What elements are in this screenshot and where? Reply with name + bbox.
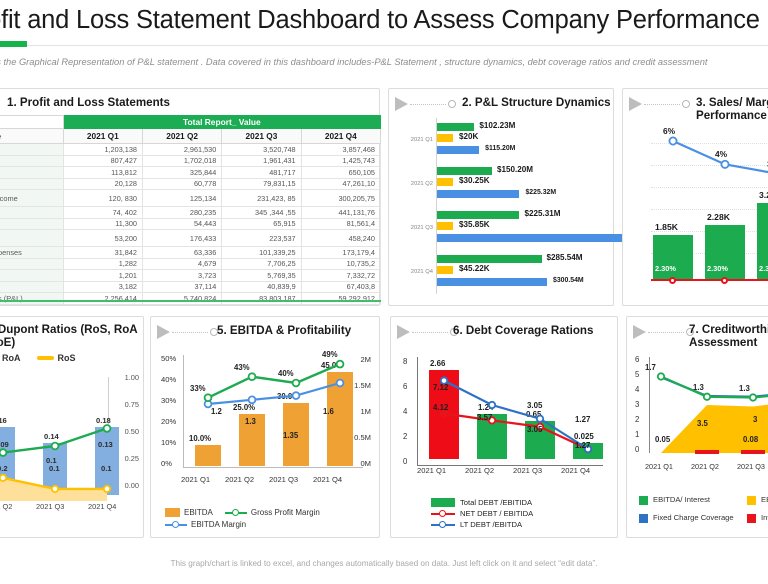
c5-value-annotation: 1.6 bbox=[323, 407, 334, 416]
c2-label-amber: $20K bbox=[459, 132, 478, 141]
table-cell-label: Others bbox=[0, 167, 63, 179]
legend-item-gross-profit-margin: Gross Profit Margin bbox=[225, 508, 320, 517]
legend-item-interest-average: Interest Average bbox=[747, 513, 768, 523]
c7-line-label: 1.3 bbox=[693, 383, 704, 392]
table-cell-value: 1,201 bbox=[63, 270, 142, 282]
legend-item-total-debt-ebitida: Total DEBT /EBITIDA bbox=[431, 498, 533, 507]
legend-swatch bbox=[225, 508, 247, 517]
ros-color-swatch bbox=[37, 356, 54, 359]
table-row: Expenses74, 402280,235345 ,344 ,55441,13… bbox=[0, 207, 381, 219]
c2-bar-green bbox=[437, 167, 492, 175]
legend-label: Fixed Charge Coverage bbox=[653, 513, 734, 522]
card-profit-and-loss-statements: 1. Profit and Loss Statements Total Repo… bbox=[0, 88, 380, 306]
table-cell-value: 223,537 bbox=[222, 230, 301, 247]
c2-bar-amber bbox=[437, 222, 453, 230]
table-row: Expense1,2824,6797,706,2510,735,2 bbox=[0, 258, 381, 270]
legend-swatch bbox=[747, 514, 756, 523]
c2-label-green: $102.23M bbox=[479, 121, 515, 130]
table-row: Net Earnings (P&L)2,256,4145,740,82483,8… bbox=[0, 293, 381, 305]
table-cell-label: Others bbox=[0, 270, 63, 282]
table-cell-value: 74, 402 bbox=[63, 207, 142, 219]
dotted-line bbox=[412, 332, 448, 333]
c7-x-label: 2021 Q3 bbox=[737, 462, 765, 471]
card-sales-margin-performance: 3. Sales/ Margin Performance Analysis 1.… bbox=[622, 88, 768, 306]
table-cell-value: 31,842 bbox=[63, 247, 142, 259]
c3-red-dot bbox=[669, 277, 676, 284]
deco-arrow-icon bbox=[395, 97, 456, 111]
legend-label-ros: RoS bbox=[58, 353, 76, 363]
c2-bar-green bbox=[437, 255, 542, 263]
table-cell-value: 325,844 bbox=[142, 167, 221, 179]
legend-marker bbox=[172, 521, 179, 528]
legend-swatch bbox=[431, 520, 455, 529]
ebitda-chart: 0%10%20%30%40%50%0M0.5M1M1.5M2M10.0%25.0… bbox=[159, 345, 373, 491]
c7-x-label: 2021 Q2 bbox=[691, 462, 719, 471]
table-cell-value: 53,200 bbox=[63, 230, 142, 247]
c4-x-label: 2021 Q4 bbox=[88, 502, 116, 511]
sales-margin-chart: 1.85K2.30%2.28K2.30%3.21K2.30%4.05K2.30%… bbox=[633, 133, 768, 295]
table-cell-value: 3,182 bbox=[63, 281, 142, 293]
table-cell-value: 3,857,468 bbox=[301, 144, 380, 156]
triangle-icon bbox=[157, 325, 170, 339]
c2-category-label: 2021 Q2 bbox=[397, 181, 433, 187]
table-cell-value: 4,679 bbox=[142, 258, 221, 270]
legend-swatch bbox=[431, 498, 455, 507]
circle-icon bbox=[682, 100, 690, 108]
card5-title: 5. EBITDA & Profitability bbox=[217, 324, 351, 337]
pl-statement-table: Total Report_ Value Item Name 2021 Q1 20… bbox=[0, 115, 381, 305]
table-cell-label: Expenses bbox=[0, 207, 63, 219]
table-cell-value: 1,282 bbox=[63, 258, 142, 270]
table-cell-value: 807,427 bbox=[63, 155, 142, 167]
table-row: Income / Expenses31,84263,336101,339,251… bbox=[0, 247, 381, 259]
table-cell-value: 3,520,748 bbox=[222, 144, 301, 156]
table-cell-value: 173,179,4 bbox=[301, 247, 380, 259]
dupont-chart: 0.000.250.500.751.000.160.090.20.140.10.… bbox=[0, 373, 141, 513]
legend-item-ebitda-debt-service: EBITDA/ Debt Service bbox=[747, 495, 768, 505]
c2-bar-green bbox=[437, 123, 474, 131]
card7-title: 7. Creditworthiness Assessment bbox=[689, 323, 768, 349]
legend-marker bbox=[439, 510, 446, 517]
table-cell-label: Expense bbox=[0, 178, 63, 190]
table-row: Income53,200176,433223,537458,240 bbox=[0, 230, 381, 247]
c2-label-blue: $115.20M bbox=[485, 145, 515, 152]
c3-line-label: 4% bbox=[715, 149, 727, 159]
table-cell-value: 54,443 bbox=[142, 218, 221, 230]
c5-value-annotation: 1.3 bbox=[245, 417, 256, 426]
c7-interest-label: 0.08 bbox=[743, 435, 758, 444]
legend-item-ros: RoS bbox=[37, 353, 76, 363]
card3-title: 3. Sales/ Margin Performance Analysis bbox=[696, 96, 768, 122]
c7-x-label: 2021 Q1 bbox=[645, 462, 673, 471]
table-cell-value: 2,256,414 bbox=[63, 293, 142, 305]
deco-arrow-icon bbox=[629, 97, 690, 111]
dotted-line bbox=[648, 332, 684, 333]
c4-x-label: 2021 Q2 bbox=[0, 502, 12, 511]
triangle-icon bbox=[629, 97, 642, 111]
legend-swatch bbox=[639, 514, 648, 523]
deco-arrow-icon bbox=[157, 325, 218, 339]
table-cell-value: 458,240 bbox=[301, 230, 380, 247]
card-pl-structure-dynamics: 2. P&L Structure Dynamics 2021 Q1$102.23… bbox=[388, 88, 614, 306]
c2-bar-group: 2021 Q3$225.31M$35.85K$655.54M bbox=[397, 209, 607, 253]
card-creditworthiness-assessment: 7. Creditworthiness Assessment 01234561.… bbox=[626, 316, 768, 538]
table-cell-label: Income bbox=[0, 230, 63, 247]
table-cell-value: 79,831,15 bbox=[222, 178, 301, 190]
c2-bar-amber bbox=[437, 266, 453, 274]
table-cell-value: 280,235 bbox=[142, 207, 221, 219]
dotted-line bbox=[644, 104, 680, 105]
table-cell-value: 120, 830 bbox=[63, 190, 142, 207]
legend-item-ebitda-margin: EBITDA Margin bbox=[165, 520, 246, 529]
c7-red-marker bbox=[741, 450, 765, 454]
c6-net-debt-label: 1.27 bbox=[575, 441, 590, 450]
legend-label: Total DEBT /EBITIDA bbox=[460, 498, 532, 507]
table-cell-value: 5,740,824 bbox=[142, 293, 221, 305]
legend-swatch bbox=[639, 496, 648, 505]
c2-label-green: $225.31M bbox=[524, 209, 560, 218]
dashboard-page: Profit and Loss Statement Dashboard to A… bbox=[0, 0, 768, 584]
table-row: Expenses807,4271,702,0181,961,4311,425,7… bbox=[0, 155, 381, 167]
card2-title: 2. P&L Structure Dynamics bbox=[462, 96, 611, 109]
table-cell-label: Tax bbox=[0, 281, 63, 293]
c2-label-amber: $45.22K bbox=[459, 264, 490, 273]
deco-arrow-icon bbox=[397, 325, 458, 339]
table-row: Others1,2013,7235,769,357,332,72 bbox=[0, 270, 381, 282]
header-divider bbox=[0, 45, 768, 46]
c3-line-label: 6% bbox=[663, 126, 675, 136]
table-cell-value: 650,105 bbox=[301, 167, 380, 179]
table-cell-label: Expenses bbox=[0, 155, 63, 167]
table-cell-label: Expense bbox=[0, 258, 63, 270]
deco-arrow-icon bbox=[633, 325, 694, 339]
table-cell-label: Income / Expenses bbox=[0, 247, 63, 259]
legend-item-ebitda-interest: EBITDA/ Interest bbox=[639, 495, 747, 505]
legend-label: LT DEBT /EBITDA bbox=[460, 520, 522, 529]
c2-label-blue: $225.32M bbox=[525, 189, 556, 196]
table-row: Sales1,203,1382,961,5303,520,7483,857,46… bbox=[0, 144, 381, 156]
table-cell-value: 37,114 bbox=[142, 281, 221, 293]
legend-label: EBITDA Margin bbox=[191, 520, 246, 529]
card-debt-coverage-ratios: 6. Debt Coverage Rations 024682.661.240.… bbox=[390, 316, 618, 538]
table-cell-value: 125,134 bbox=[142, 190, 221, 207]
c6-lt-debt-label: 1.27 bbox=[575, 415, 590, 424]
table-cell-value: 60,778 bbox=[142, 178, 221, 190]
c2-bar-group: 2021 Q1$102.23M$20K$115.20M bbox=[397, 121, 607, 165]
table-cell-value: 300,205,75 bbox=[301, 190, 380, 207]
table-cell-value: 20,128 bbox=[63, 178, 142, 190]
c7-red-marker bbox=[695, 450, 719, 454]
table-row: Others11,30054,44365,91581,561,4 bbox=[0, 218, 381, 230]
table-cell-value: 176,433 bbox=[142, 230, 221, 247]
table-cell-value: 59,292,912 bbox=[301, 293, 380, 305]
c2-bar-green bbox=[437, 211, 519, 219]
legend-swatch bbox=[165, 508, 180, 517]
header-accent-bar bbox=[0, 41, 27, 47]
c2-category-label: 2021 Q4 bbox=[397, 269, 433, 275]
legend-swatch bbox=[747, 496, 756, 505]
legend-label-roa: RoA bbox=[2, 353, 21, 363]
table-cell-value: 47,261,10 bbox=[301, 178, 380, 190]
table-header-q1: 2021 Q1 bbox=[63, 129, 142, 144]
legend-swatch bbox=[431, 509, 455, 518]
creditworthiness-chart: 01234561.71.31.30.053.530.082021 Q12021 … bbox=[631, 353, 768, 475]
legend-row: EBITDAGross Profit Margin bbox=[165, 508, 375, 517]
table-cell-value: 345 ,344 ,55 bbox=[222, 207, 301, 219]
table-cell-value: 10,735,2 bbox=[301, 258, 380, 270]
legend-swatch bbox=[165, 520, 187, 529]
table-cell-value: 7,706,25 bbox=[222, 258, 301, 270]
c6-net-debt-label: 3.57 bbox=[477, 413, 492, 422]
legend-marker bbox=[439, 521, 446, 528]
c6-lt-debt-label: 7.12 bbox=[433, 383, 448, 392]
legend-item-net-debt-ebitida: NET DEBT / EBITIDA bbox=[431, 509, 533, 518]
table-header-q4: 2021 Q4 bbox=[301, 129, 380, 144]
c5-value-annotation: 1.35 bbox=[283, 431, 298, 440]
c2-bar-blue bbox=[437, 278, 547, 286]
c2-label-amber: $30.25K bbox=[459, 176, 490, 185]
table-row: Others113,812325,844481,717650,105 bbox=[0, 167, 381, 179]
table-cell-value: 65,915 bbox=[222, 218, 301, 230]
pl-structure-chart: 2021 Q1$102.23M$20K$115.20M2021 Q2$150.2… bbox=[397, 115, 607, 297]
c7-line-label: 1.3 bbox=[739, 384, 750, 393]
legend-item-ebitda: EBITDA bbox=[165, 508, 213, 517]
table-header-q3: 2021 Q3 bbox=[222, 129, 301, 144]
legend-label: EBITDA/ Debt Service bbox=[761, 495, 768, 504]
c2-bar-blue bbox=[437, 190, 519, 198]
c6-net-debt-label: 4.12 bbox=[433, 403, 448, 412]
card4-legend: RoA RoS bbox=[0, 353, 76, 363]
legend-row: EBITDA Margin bbox=[165, 520, 375, 529]
legend-label: EBITDA/ Interest bbox=[653, 495, 710, 504]
c6-lt-debt-label: 3.05 bbox=[527, 401, 542, 410]
c2-category-label: 2021 Q1 bbox=[397, 137, 433, 143]
table-header-item-name: Item Name bbox=[0, 129, 63, 144]
c2-bar-amber bbox=[437, 178, 453, 186]
page-title: Profit and Loss Statement Dashboard to A… bbox=[0, 6, 768, 35]
c5-gpm-label: 33% bbox=[190, 384, 206, 393]
table-header-q2: 2021 Q2 bbox=[142, 129, 221, 144]
c5-gpm-label: 40% bbox=[278, 369, 294, 378]
legend-label: NET DEBT / EBITIDA bbox=[460, 509, 533, 518]
c5-value-annotation: 1.2 bbox=[211, 407, 222, 416]
debt-coverage-chart: 024682.661.240.650.0252021 Q12021 Q22021… bbox=[399, 345, 611, 481]
circle-icon bbox=[448, 100, 456, 108]
table-cell-value: 101,339,25 bbox=[222, 247, 301, 259]
table-cell-value: 67,403,8 bbox=[301, 281, 380, 293]
card5-legend: EBITDAGross Profit MarginEBITDA Margin bbox=[165, 508, 375, 529]
table-cell-value: 83,803,187 bbox=[222, 293, 301, 305]
table-cell-value: 1,702,018 bbox=[142, 155, 221, 167]
legend-item-fixed-charge-coverage: Fixed Charge Coverage bbox=[639, 513, 747, 523]
table-cell-label: Net Earnings (P&L) bbox=[0, 293, 63, 305]
table-cell-value: 113,812 bbox=[63, 167, 142, 179]
table-cell-value: 7,332,72 bbox=[301, 270, 380, 282]
table-cell-value: 231,423, 85 bbox=[222, 190, 301, 207]
card1-bottom-accent bbox=[0, 300, 381, 302]
table-body: Sales1,203,1382,961,5303,520,7483,857,46… bbox=[0, 144, 381, 305]
table-cell-label: Others bbox=[0, 218, 63, 230]
c7-area-label: 3.5 bbox=[697, 419, 708, 428]
c2-label-green: $285.54M bbox=[547, 253, 583, 262]
table-row: Expense20,12860,77879,831,1547,261,10 bbox=[0, 178, 381, 190]
table-group-header: Total Report_ Value bbox=[63, 116, 380, 129]
table-cell-value: 63,336 bbox=[142, 247, 221, 259]
c2-label-blue: $300.54M bbox=[553, 277, 584, 284]
legend-item-lt-debt-ebitda: LT DEBT /EBITDA bbox=[431, 520, 533, 529]
triangle-icon bbox=[395, 97, 408, 111]
legend-item-roa: RoA bbox=[0, 353, 21, 363]
table-row: Operating Income120, 830125,134231,423, … bbox=[0, 190, 381, 207]
page-subtitle: This is the Graphical Representation of … bbox=[0, 57, 768, 67]
dotted-line bbox=[172, 332, 208, 333]
c2-label-green: $150.20M bbox=[497, 165, 533, 174]
legend-label: EBITDA bbox=[184, 508, 213, 517]
card6-legend: Total DEBT /EBITIDANET DEBT / EBITIDALT … bbox=[431, 498, 533, 531]
c3-red-dot bbox=[721, 277, 728, 284]
legend-marker bbox=[232, 509, 239, 516]
triangle-icon bbox=[633, 325, 646, 339]
table-cell-label: Operating Income bbox=[0, 190, 63, 207]
c7-line-label: 1.7 bbox=[645, 363, 656, 372]
c2-bar-group: 2021 Q4$285.54M$45.22K$300.54M bbox=[397, 253, 607, 297]
card1-title: 1. Profit and Loss Statements bbox=[7, 96, 170, 109]
c2-bar-amber bbox=[437, 134, 453, 142]
c7-area-label: 0.05 bbox=[655, 435, 670, 444]
table-cell-value: 11,300 bbox=[63, 218, 142, 230]
legend-label: Gross Profit Margin bbox=[251, 508, 320, 517]
table-corner-blank bbox=[0, 116, 63, 129]
c7-area-label: 3 bbox=[753, 415, 757, 424]
table-cell-value: 1,425,743 bbox=[301, 155, 380, 167]
table-cell-value: 5,769,35 bbox=[222, 270, 301, 282]
c2-label-amber: $35.85K bbox=[459, 220, 490, 229]
c2-category-label: 2021 Q3 bbox=[397, 225, 433, 231]
c4-x-label: 2021 Q3 bbox=[36, 502, 64, 511]
triangle-icon bbox=[397, 325, 410, 339]
footer-note: This graph/chart is linked to excel, and… bbox=[0, 559, 768, 568]
dotted-line bbox=[410, 104, 446, 105]
table-cell-value: 2,961,530 bbox=[142, 144, 221, 156]
table-cell-label: Sales bbox=[0, 144, 63, 156]
card-ebitda-profitability: 5. EBITDA & Profitability 0%10%20%30%40%… bbox=[150, 316, 380, 538]
c5-gpm-label: 49% bbox=[322, 350, 338, 359]
card4-title: 4. Dupont Ratios (RoS, RoA ,RoE) bbox=[0, 323, 145, 349]
table-cell-value: 441,131,76 bbox=[301, 207, 380, 219]
table-cell-value: 1,203,138 bbox=[63, 144, 142, 156]
table-cell-value: 3,723 bbox=[142, 270, 221, 282]
table-cell-value: 40,839,9 bbox=[222, 281, 301, 293]
table-cell-value: 481,717 bbox=[222, 167, 301, 179]
c2-bar-blue bbox=[437, 146, 479, 154]
table-cell-value: 1,961,431 bbox=[222, 155, 301, 167]
table-row: Tax3,18237,11440,839,967,403,8 bbox=[0, 281, 381, 293]
c5-gpm-label: 43% bbox=[234, 363, 250, 372]
table-cell-value: 81,561,4 bbox=[301, 218, 380, 230]
card6-title: 6. Debt Coverage Rations bbox=[453, 324, 593, 337]
legend-label: Interest Average bbox=[761, 513, 768, 522]
card7-legend: EBITDA/ InterestEBITDA/ Debt ServiceFixe… bbox=[639, 495, 768, 523]
card-dupont-ratios: 4. Dupont Ratios (RoS, RoA ,RoE) RoA RoS… bbox=[0, 316, 144, 538]
c2-bar-group: 2021 Q2$150.20M$30.25K$225.32M bbox=[397, 165, 607, 209]
c6-net-debt-label: 3.05 bbox=[527, 425, 542, 434]
